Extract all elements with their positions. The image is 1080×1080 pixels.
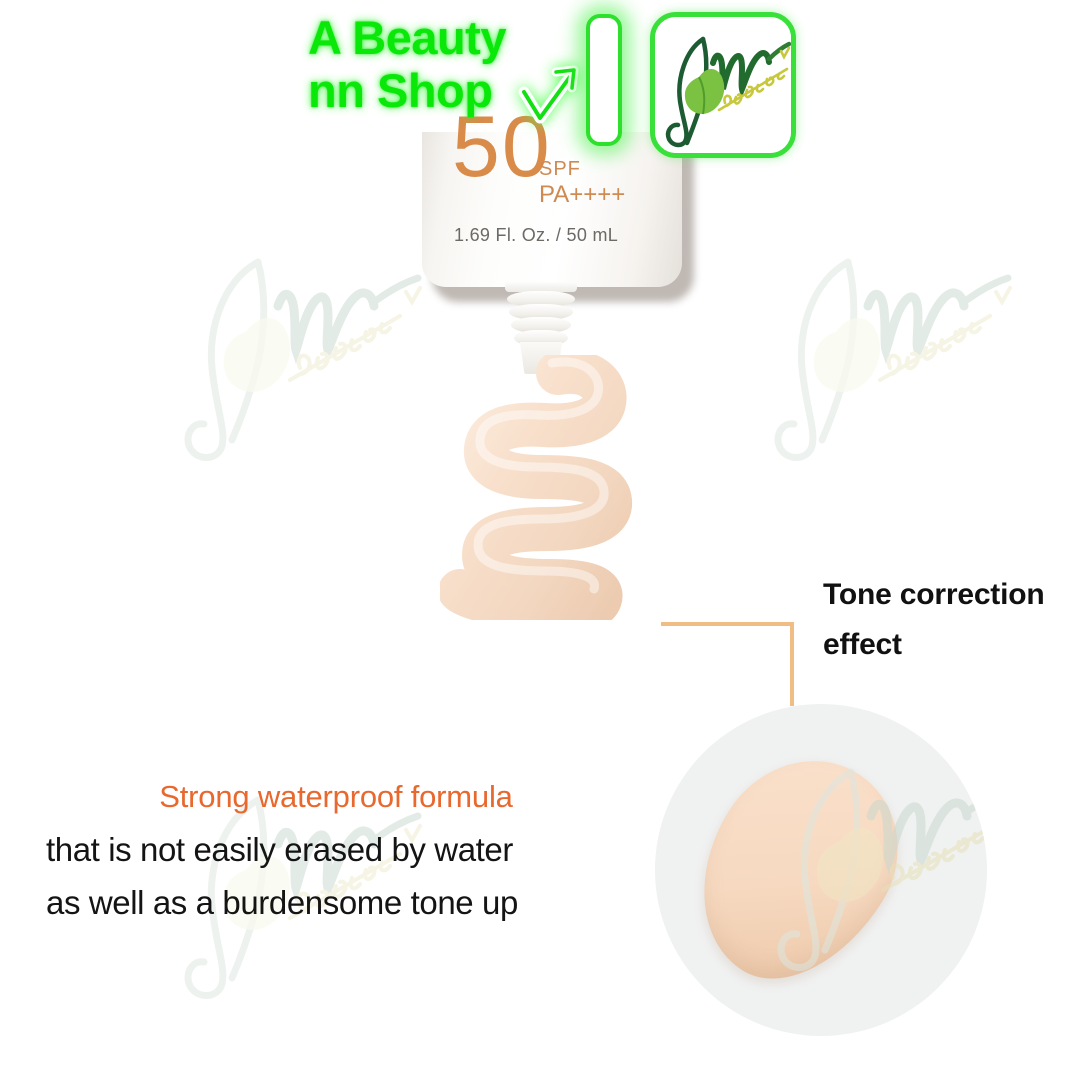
shop-brand-line-1: A Beauty (308, 12, 608, 65)
tube-body: 50 SPF PA++++ 1.69 Fl. Oz. / 50 mL (422, 132, 682, 287)
tube-spf-label: SPF (539, 158, 581, 181)
tone-correction-line-2: effect (823, 620, 1073, 670)
check-arrow-icon (518, 62, 584, 126)
copy-line-3: as well as a burdensome tone up (46, 882, 626, 923)
marketing-copy-block: Strong waterproof formula that is not ea… (46, 778, 626, 936)
cream-swatch-blob (661, 726, 933, 1014)
callout-connector-icon (660, 620, 796, 708)
copy-line-2: that is not easily erased by water (46, 829, 626, 870)
product-tube: 50 SPF PA++++ 1.69 Fl. Oz. / 50 mL (418, 132, 694, 302)
tube-volume-label: 1.69 Fl. Oz. / 50 mL (454, 225, 618, 246)
amm-watermark-icon (740, 240, 1040, 480)
cream-swirl-icon (440, 355, 670, 620)
vertical-bar-icon (586, 14, 622, 146)
tone-correction-title: Tone correction effect (823, 570, 1073, 670)
product-promo-image: 50 SPF PA++++ 1.69 Fl. Oz. / 50 mL (0, 0, 1080, 1080)
tube-pa-label: PA++++ (539, 181, 625, 209)
shop-brand-overlay: A Beauty nn Shop (300, 6, 800, 146)
cream-swatch-icon (655, 704, 987, 1036)
tone-correction-line-1: Tone correction (823, 570, 1073, 620)
amm-be-natural-logo-icon (650, 12, 796, 158)
copy-headline: Strong waterproof formula (46, 778, 626, 815)
amm-watermark-icon (150, 240, 450, 480)
